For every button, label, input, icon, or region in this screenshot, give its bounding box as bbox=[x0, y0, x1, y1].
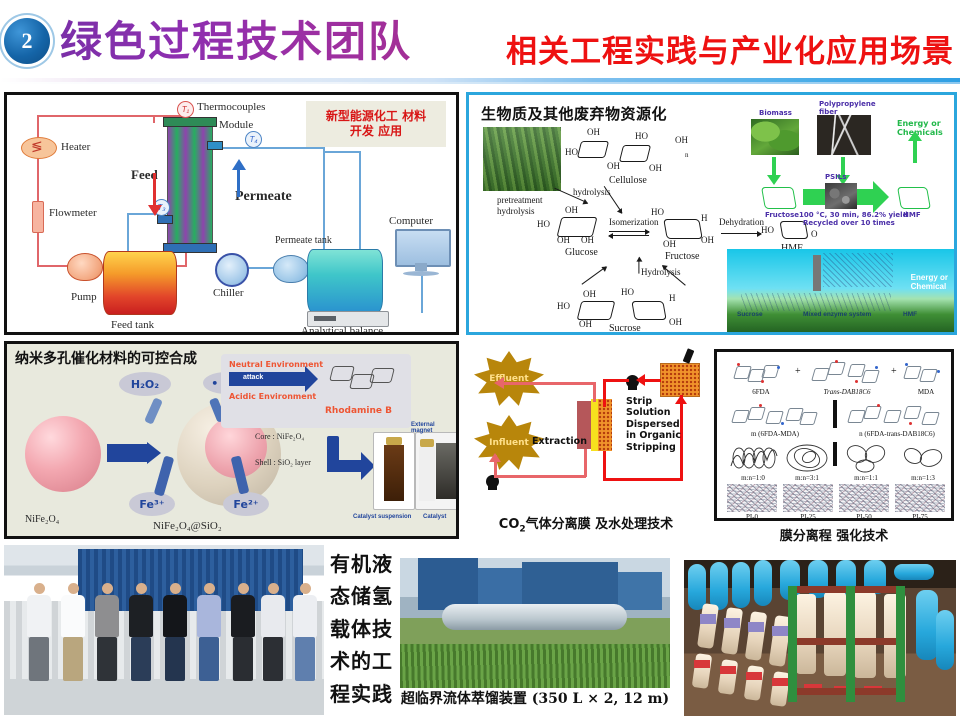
chem-label-oh-7: OH bbox=[581, 235, 594, 245]
chem-label-ho-1: HO bbox=[565, 147, 578, 157]
rig-callout-line2: 开发 应用 bbox=[350, 124, 402, 139]
slide-number-text: 2 bbox=[22, 28, 33, 54]
vcap-line-4: 程实践 bbox=[330, 678, 396, 710]
inset-label-energy-chemicals: Energy or Chemicals bbox=[897, 119, 949, 137]
effluent-star: Effluent bbox=[474, 351, 544, 407]
inset-label-condition1: 100 °C, 30 min, 86.2% yield bbox=[799, 211, 908, 219]
label-catalyst-suspension: Catalyst suspension bbox=[353, 514, 411, 520]
attack-arrow bbox=[229, 372, 305, 386]
label-module: Module bbox=[219, 119, 253, 131]
label-flowmeter: Flowmeter bbox=[49, 207, 97, 219]
md-cube-2 bbox=[839, 484, 889, 512]
copolymer-label-0: m (6FDA-MDA) bbox=[729, 430, 821, 438]
slide-header: 2 绿色过程技术团队 相关工程实践与产业化应用场景 bbox=[0, 0, 960, 84]
strip-vessel bbox=[660, 363, 700, 397]
biomass-inset-photo bbox=[751, 119, 799, 155]
inset-label-condition2: Recycled over 10 times bbox=[803, 219, 895, 227]
feed-tank bbox=[103, 251, 177, 315]
label-core: Core : NiFe₂O₄ bbox=[255, 432, 304, 441]
monomer-label-1: Trans-DAB18C6 bbox=[807, 388, 887, 396]
computer-monitor bbox=[395, 229, 451, 267]
enzyme-system-illustration: Energy or Chemical Sucrose Mixed enzyme … bbox=[727, 249, 954, 335]
chem-label-oh-8: OH bbox=[663, 239, 676, 249]
attack-arrow-label: attack bbox=[243, 374, 263, 381]
panel-membrane-modules bbox=[684, 560, 956, 716]
inset-label-hmf: HMF bbox=[903, 211, 921, 219]
label-heater: Heater bbox=[61, 141, 90, 153]
person-1 bbox=[26, 583, 52, 681]
vcap-line-0: 有机液 bbox=[330, 548, 396, 580]
psila-photo bbox=[825, 183, 857, 209]
rig-callout-line1: 新型能源化工 材料 bbox=[326, 109, 426, 124]
chem-label-cellulose: Cellulose bbox=[609, 175, 647, 186]
slide-number-badge: 2 bbox=[4, 18, 50, 64]
label-chiller: Chiller bbox=[213, 287, 244, 299]
chem-label-glucose: Glucose bbox=[565, 247, 598, 258]
md-cube-0 bbox=[727, 484, 777, 512]
chem-label-hydrolysis-2: Hydrolysis bbox=[641, 267, 681, 277]
rig-callout-box: 新型能源化工 材料 开发 应用 bbox=[306, 101, 446, 147]
coil-icon-1 bbox=[783, 442, 831, 474]
label-pump: Pump bbox=[71, 291, 97, 303]
extraction-label: Extraction bbox=[532, 436, 587, 447]
label-nife2o4: NiFe₂O₄ bbox=[25, 514, 59, 525]
ratio-label-1: m:n=3:1 bbox=[783, 474, 831, 482]
strip-solution-label: Strip Solution Dispersed in Organic Stri… bbox=[626, 396, 698, 453]
chem-label-oh-6: OH bbox=[557, 235, 570, 245]
vial-suspension-photo bbox=[373, 432, 415, 510]
chem-label-ho-7: HO bbox=[557, 301, 570, 311]
panel-co2-membrane: Effluent Influent Extraction Strip Solut… bbox=[466, 341, 706, 539]
chem-label-ho-2: HO bbox=[635, 131, 648, 141]
coil-icon-0 bbox=[727, 442, 779, 474]
grass-photo bbox=[483, 127, 561, 191]
label-rhodamine: Rhodamine B bbox=[325, 406, 392, 416]
person-7 bbox=[230, 583, 256, 681]
chem-label-oh-4: OH bbox=[649, 163, 662, 173]
biomass-panel-title: 生物质及其他废弃物资源化 bbox=[481, 103, 667, 124]
chem-label-h-1: H bbox=[701, 213, 708, 223]
chem-label-oh-1: OH bbox=[587, 127, 600, 137]
person-5 bbox=[162, 583, 188, 681]
chem-label-n: n bbox=[685, 151, 689, 159]
person-4 bbox=[128, 583, 154, 681]
chem-label-h-2: H bbox=[669, 293, 676, 303]
membrane-modules-photo bbox=[684, 560, 956, 716]
permeate-pump-icon bbox=[273, 255, 309, 283]
permeate-tank bbox=[307, 249, 383, 313]
influent-label: Influent bbox=[489, 438, 529, 448]
inset2-label-energy-chemical: Energy or Chemical bbox=[911, 273, 948, 291]
chem-label-ho-3: HO bbox=[537, 219, 550, 229]
label-computer: Computer bbox=[389, 215, 433, 227]
membrane-layer bbox=[591, 399, 598, 451]
plus-sign-1: + bbox=[795, 366, 801, 377]
ground-surface bbox=[4, 679, 324, 715]
panel-scf-plant: 超临界流体萃馏装置 (350 L × 2, 12 m) bbox=[400, 558, 670, 716]
arrow-to-core-shell bbox=[107, 444, 147, 462]
chem-label-ho-6: HO bbox=[621, 287, 634, 297]
team-photo bbox=[4, 545, 324, 715]
label-permeate-tank: Permeate tank bbox=[275, 235, 332, 246]
chem-label-oh-2: OH bbox=[675, 135, 688, 145]
ratio-label-3: m:n=1:3 bbox=[899, 474, 947, 482]
ratio-label-0: m:n=1:0 bbox=[727, 474, 779, 482]
vcap-line-1: 态储氢 bbox=[330, 580, 396, 612]
chem-label-oh-5: OH bbox=[565, 205, 578, 215]
inset-label-fructose: Fructose bbox=[765, 211, 799, 219]
page-title: 绿色过程技术团队 bbox=[60, 8, 412, 69]
model-label-2: PI-50 bbox=[839, 513, 889, 521]
person-8 bbox=[260, 583, 286, 681]
hydrogen-carrier-vertical-caption: 有机液 态储氢 载体技 术的工 程实践 bbox=[330, 548, 396, 710]
thermocouple-t1-icon: T₁ bbox=[177, 101, 194, 118]
label-feed-tank: Feed tank bbox=[111, 319, 154, 331]
monitor-base bbox=[403, 271, 439, 276]
model-label-0: PI-0 bbox=[727, 513, 777, 521]
vcap-line-3: 术的工 bbox=[330, 645, 396, 677]
vertical-divider-1 bbox=[833, 400, 837, 428]
heater-icon bbox=[21, 137, 57, 159]
label-acidic-environment: Acidic Environment bbox=[229, 392, 316, 401]
panel-membrane-rig: T₁ T₄ T₃ T₂ Thermocouples Module Heater … bbox=[4, 92, 459, 335]
model-label-3: PI-75 bbox=[895, 513, 945, 521]
chem-label-oh-10: OH bbox=[583, 289, 596, 299]
chem-label-sucrose: Sucrose bbox=[609, 323, 641, 334]
monitor-stand bbox=[415, 263, 427, 271]
chem-label-ho-4: HO bbox=[651, 207, 664, 217]
label-nife2o4-sio2: NiFe₂O₄@SiO₂ bbox=[153, 520, 222, 532]
coil-icon-2 bbox=[841, 442, 891, 474]
label-external-magnet: External magnet bbox=[411, 422, 456, 434]
label-thermocouples: Thermocouples bbox=[197, 101, 265, 113]
label-h2o2: H₂O₂ bbox=[119, 372, 171, 396]
label-fe3: Fe³⁺ bbox=[129, 492, 175, 516]
flowmeter-icon bbox=[32, 201, 44, 233]
co2-panel-caption: CO2气体分离膜 及水处理技术 bbox=[466, 513, 706, 535]
panel-pi-membrane: 6FDA Trans-DAB18C6 MDA + + m (6FDA-MDA) … bbox=[714, 349, 954, 521]
vertical-divider-2 bbox=[833, 442, 837, 466]
chem-label-oh-3: OH bbox=[607, 161, 620, 171]
person-3 bbox=[94, 583, 120, 681]
person-2 bbox=[60, 583, 86, 681]
ratio-label-2: m:n=1:1 bbox=[841, 474, 891, 482]
label-analytical-balance: Analytical balance bbox=[301, 325, 383, 335]
lawn bbox=[400, 644, 670, 688]
label-permeate: Permeate bbox=[235, 189, 292, 205]
inset2-label-hmf: HMF bbox=[903, 311, 917, 318]
chiller-icon bbox=[215, 253, 249, 287]
inset2-label-enzyme-system: Mixed enzyme system bbox=[803, 311, 871, 318]
chem-label-hydrolysis-1: hydrolysis bbox=[573, 187, 611, 197]
label-fe2: Fe²⁺ bbox=[223, 492, 269, 516]
md-cube-3 bbox=[895, 484, 945, 512]
scf-caption: 超临界流体萃馏装置 (350 L × 2, 12 m) bbox=[400, 688, 670, 708]
feed-pump-icon bbox=[67, 253, 103, 281]
chem-label-oh-12: OH bbox=[669, 317, 682, 327]
chem-label-isomerization: Isomerization bbox=[609, 217, 658, 227]
scf-plant-photo bbox=[400, 558, 670, 688]
scf-vessel bbox=[442, 604, 627, 630]
chem-label-dehydration: Dehydration bbox=[719, 217, 764, 227]
inset2-label-sucrose: Sucrose bbox=[737, 311, 763, 318]
inset-label-psila: PSILs bbox=[825, 173, 846, 181]
coil-icon-3 bbox=[899, 442, 947, 474]
chem-label-fructose: Fructose bbox=[665, 251, 699, 262]
person-9 bbox=[292, 583, 318, 681]
chem-label-o-1: O bbox=[811, 229, 818, 239]
chem-label-ho-5: HO bbox=[761, 225, 774, 235]
monomer-label-2: MDA bbox=[903, 388, 949, 396]
label-catalyst: Catalyst bbox=[423, 514, 446, 520]
inset-label-pp-fiber: Polypropylene fiber bbox=[819, 101, 875, 116]
membrane-rig-diagram: T₁ T₄ T₃ T₂ Thermocouples Module Heater … bbox=[7, 95, 456, 332]
copolymer-label-1: n (6FDA-trans-DAB18C6) bbox=[845, 430, 949, 438]
vial-magnet-photo bbox=[415, 432, 459, 510]
label-shell: Shell : SiO₂ layer bbox=[255, 458, 311, 467]
inset-label-biomass: Biomass bbox=[759, 109, 792, 117]
polypropylene-fiber-photo bbox=[817, 115, 871, 155]
vcap-line-2: 载体技 bbox=[330, 613, 396, 645]
nano-panel-title: 纳米多孔催化材料的可控合成 bbox=[15, 348, 197, 368]
chem-label-oh-9: OH bbox=[701, 235, 714, 245]
chem-label-oh-11: OH bbox=[579, 319, 592, 329]
nife2o4-sphere bbox=[25, 416, 101, 492]
panel-nanoporous-catalyst: 纳米多孔催化材料的可控合成 H₂O₂ • OH Fe³⁺ Fe²⁺ Neutra… bbox=[4, 341, 459, 539]
co2-caption-pre: CO bbox=[499, 517, 520, 532]
monomer-label-0: 6FDA bbox=[735, 388, 787, 396]
page-subtitle: 相关工程实践与产业化应用场景 bbox=[506, 26, 954, 71]
plus-sign-2: + bbox=[891, 366, 897, 377]
md-cube-1 bbox=[783, 484, 833, 512]
co2-caption-post: 气体分离膜 及水处理技术 bbox=[526, 517, 674, 532]
panel-team-photo bbox=[4, 545, 324, 715]
header-divider-secondary bbox=[0, 82, 960, 84]
thermocouple-t4-icon: T₄ bbox=[245, 131, 262, 148]
model-label-1: PI-25 bbox=[783, 513, 833, 521]
pi-panel-caption: 膜分离程 强化技术 bbox=[714, 525, 954, 544]
chem-label-pretreatment: pretreatment hydrolysis bbox=[497, 195, 567, 217]
person-6 bbox=[196, 583, 222, 681]
panel-biomass-valorization: 生物质及其他废弃物资源化 OH HO HO OH OH OH n Cellulo… bbox=[466, 92, 957, 335]
